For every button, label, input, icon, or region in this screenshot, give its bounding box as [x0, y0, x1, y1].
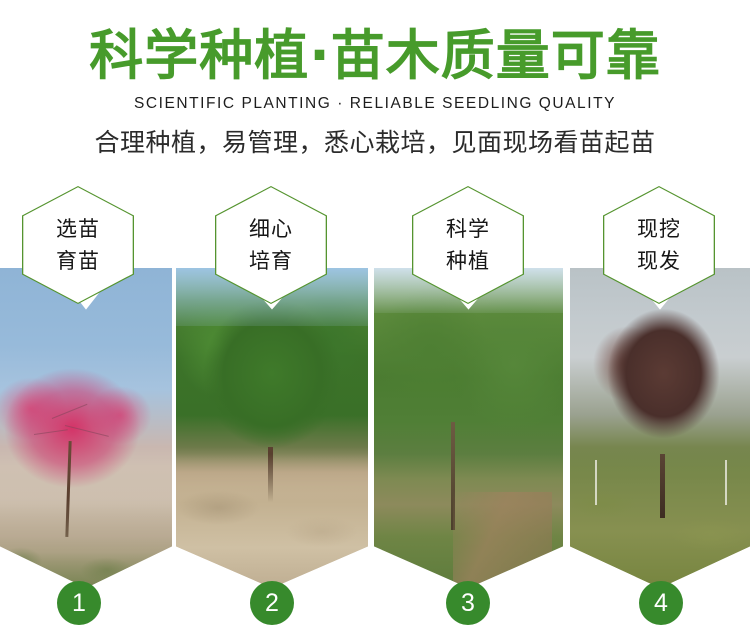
- step-badge-4-line-1: 现挖: [637, 217, 681, 241]
- step-badge-2-line-1: 细心: [249, 217, 293, 241]
- photo-green-foliage-field: [374, 268, 563, 588]
- tree-trunk: [660, 454, 665, 518]
- subtitle-chinese: 合理种植，易管理，悉心栽培，见面现场看苗起苗: [0, 126, 750, 160]
- photo-purple-leaf-tree-grass: [570, 268, 750, 588]
- photo-panel-strip: [0, 268, 750, 588]
- photo-panel-1[interactable]: [0, 268, 172, 588]
- step-badge-1-line-1: 选苗: [56, 217, 100, 241]
- photo-panel-4[interactable]: [570, 268, 750, 588]
- step-badge-1-line-2: 育苗: [56, 249, 100, 273]
- step-number-2: 2: [250, 581, 294, 625]
- dirt-path: [453, 492, 551, 588]
- step-number-4: 4: [639, 581, 683, 625]
- fence-post: [595, 460, 597, 505]
- photo-panel-3[interactable]: [374, 268, 563, 588]
- photo-panel-2[interactable]: [176, 268, 368, 588]
- page-title: 科学种植·苗木质量可靠: [0, 24, 750, 88]
- step-badge-3-line-1: 科学: [446, 217, 490, 241]
- step-badge-3-line-2: 种植: [446, 249, 490, 273]
- step-number-1: 1: [57, 581, 101, 625]
- step-badge-2-line-2: 培育: [249, 249, 293, 273]
- photo-green-tree-tilled-soil: [176, 268, 368, 588]
- step-badge-4-line-2: 现发: [637, 249, 681, 273]
- subtitle-english: SCIENTIFIC PLANTING · RELIABLE SEEDLING …: [0, 94, 750, 114]
- step-number-3: 3: [446, 581, 490, 625]
- photo-pink-blossom-tree: [0, 268, 172, 588]
- ground: [0, 498, 172, 588]
- soil: [176, 454, 368, 588]
- fence-post: [725, 460, 727, 505]
- header: 科学种植·苗木质量可靠 SCIENTIFIC PLANTING · RELIAB…: [0, 0, 750, 180]
- promo-banner: 科学种植·苗木质量可靠 SCIENTIFIC PLANTING · RELIAB…: [0, 0, 750, 632]
